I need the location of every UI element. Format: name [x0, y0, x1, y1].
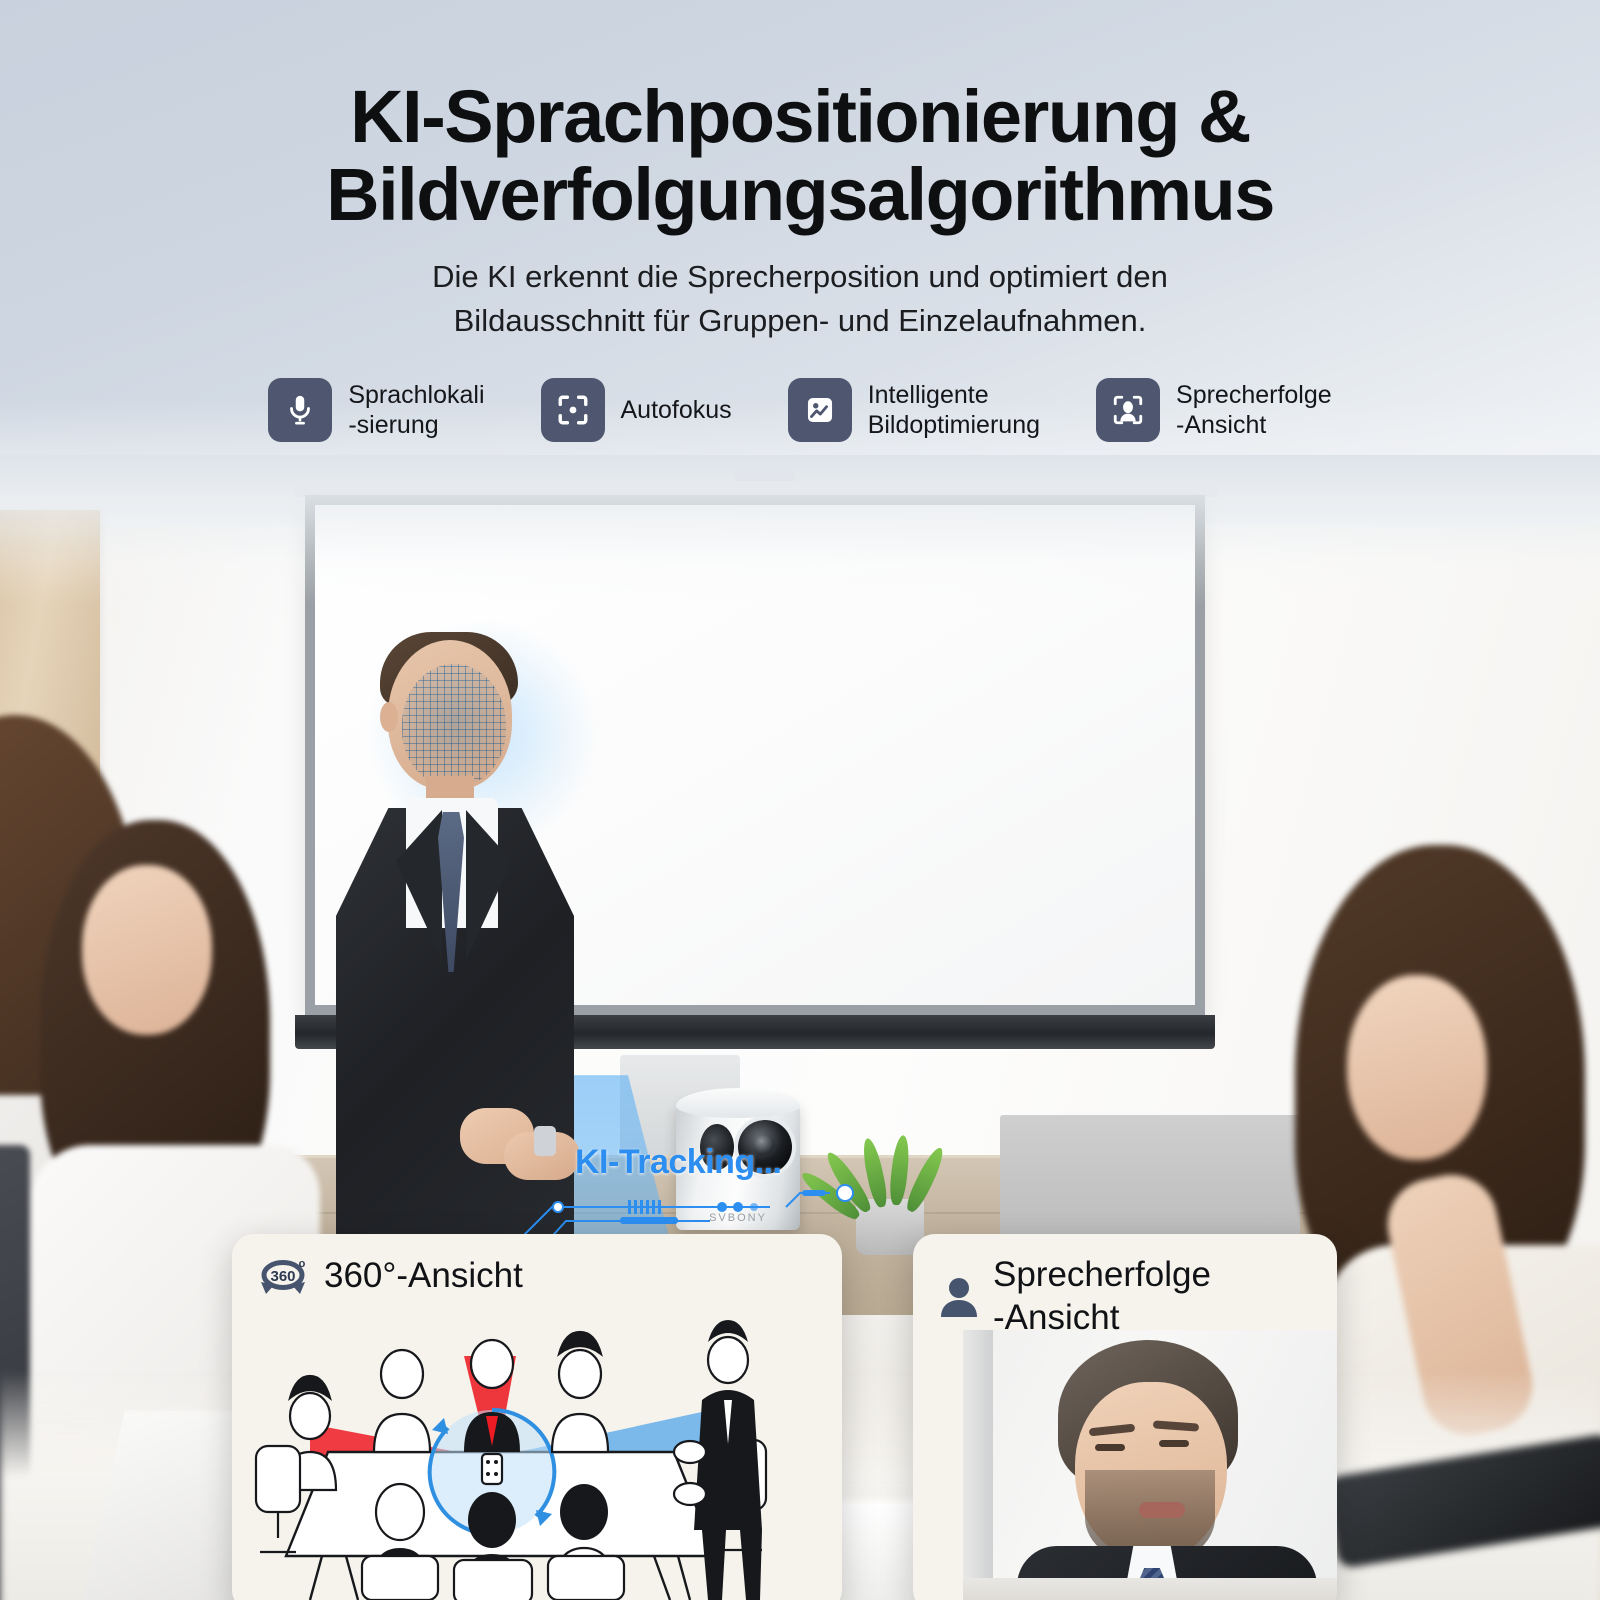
table-camera-device [482, 1454, 502, 1484]
speaker-mouth [1139, 1502, 1185, 1518]
card-title: 360°-Ansicht [324, 1255, 523, 1298]
autofocus-brackets-icon [541, 378, 605, 442]
feature-item-autofocus: Autofokus [541, 378, 732, 442]
feature-label: Sprecherfolge -Ansicht [1176, 380, 1332, 441]
attendee-face [82, 865, 212, 1035]
attendee-face [1347, 975, 1487, 1160]
feature-list: Sprachlokali -sierung Autofokus [0, 378, 1600, 442]
face-track-icon [1096, 378, 1160, 442]
person-icon [939, 1275, 979, 1319]
page-subtitle: Die KI erkennt die Sprecherposition und … [0, 255, 1600, 343]
card-title: Sprecherfolge -Ansicht [993, 1254, 1211, 1339]
subtitle-line-2: Bildausschnitt für Gruppen- und Einzelau… [0, 299, 1600, 343]
presenter-ear [380, 702, 398, 732]
speaker-eye [1159, 1440, 1189, 1447]
feature-label: Intelligente Bildoptimierung [868, 380, 1040, 441]
microphone-icon [268, 378, 332, 442]
circuit-endpoint [837, 1185, 853, 1201]
feature-label: Autofokus [621, 395, 732, 426]
card-header: 360 o 360°-Ansicht [232, 1234, 842, 1298]
speaker-closeup-photo [963, 1330, 1337, 1600]
card-header: Sprecherfolge -Ansicht [913, 1234, 1337, 1339]
face-mesh-overlay [402, 664, 506, 786]
standing-presenter [674, 1320, 762, 1600]
seated-attendee [374, 1350, 430, 1452]
camera-top-cap [676, 1088, 800, 1118]
speaker-eye [1095, 1444, 1125, 1451]
card-speaker-view: Sprecherfolge -Ansicht [913, 1234, 1337, 1600]
header-text-block: KI-Sprachpositionierung & Bildverfolgung… [0, 0, 1600, 343]
svg-text:360: 360 [270, 1268, 295, 1285]
card-360-view: 360 o 360°-Ansicht [232, 1234, 842, 1600]
seated-attendee [552, 1332, 608, 1452]
plant-leaf [888, 1135, 911, 1206]
feature-item-speaker-view: Sprecherfolge -Ansicht [1096, 378, 1332, 442]
plant-leaf [903, 1145, 948, 1215]
scene-top-fade [0, 455, 1600, 605]
subtitle-line-1: Die KI erkennt die Sprecherposition und … [0, 255, 1600, 299]
photo-background-pillar [963, 1330, 993, 1600]
office-chair [362, 1556, 624, 1600]
photo-foreground-desk [963, 1578, 1337, 1600]
product-feature-page: KI-Tracking... SVBONY [0, 0, 1600, 1600]
feature-item-voice-localization: Sprachlokali -sierung [268, 378, 484, 442]
title-line-1: KI-Sprachpositionierung & [0, 78, 1600, 156]
feature-label: Sprachlokali -sierung [348, 380, 484, 441]
feature-item-image-optimization: Intelligente Bildoptimierung [788, 378, 1040, 442]
page-title: KI-Sprachpositionierung & Bildverfolgung… [0, 0, 1600, 235]
image-optimize-icon [788, 378, 852, 442]
ki-tracking-label: KI-Tracking... [575, 1143, 782, 1182]
presenter-wristwatch [534, 1126, 556, 1156]
svg-text:o: o [299, 1258, 306, 1270]
circuit-node [553, 1202, 563, 1212]
360-rotate-icon: 360 o [258, 1254, 310, 1298]
title-line-2: Bildverfolgungsalgorithmus [0, 156, 1600, 234]
conference-table-illustration [250, 1304, 828, 1600]
